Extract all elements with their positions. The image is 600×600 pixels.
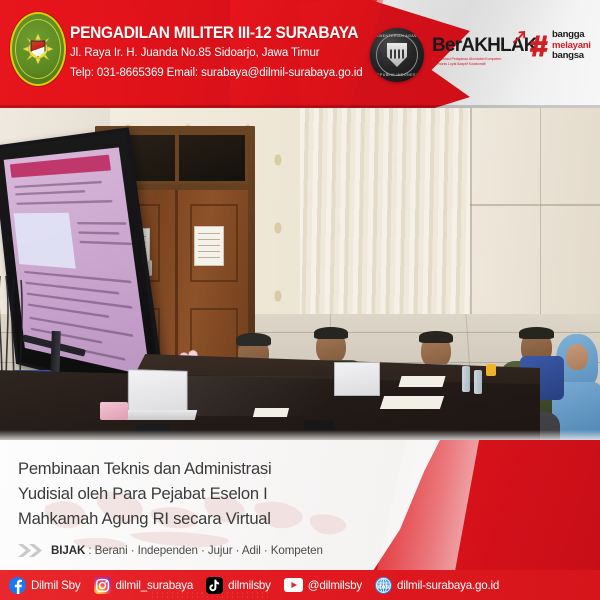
bangga-melayani-bangsa-logo: bangga melayani bangsa <box>530 30 600 62</box>
header-bar: PENGADILAN MILITER III-12 SURABAYA Jl. R… <box>0 0 600 108</box>
officer-hair <box>236 333 271 346</box>
photo-bottom-fade <box>0 430 600 440</box>
tiktok-icon[interactable] <box>206 577 223 594</box>
bijak-text: BIJAK : Berani · Independen · Jujur · Ad… <box>51 544 323 557</box>
tablet-device <box>304 420 334 430</box>
caption-line-1: Pembinaan Teknis dan Administrasi <box>18 456 368 481</box>
facebook-handle[interactable]: Dilmil Sby <box>31 579 81 592</box>
poster-root: PENGADILAN MILITER III-12 SURABAYA Jl. R… <box>0 0 600 600</box>
instagram-handle[interactable]: dilmil_surabaya <box>116 579 194 592</box>
berakhlak-logo: BerAKHLAK Berorientasi Pelayanan Akuntab… <box>432 36 528 68</box>
hashtag-icon <box>530 34 549 58</box>
event-photo <box>0 108 600 440</box>
wall-joint-horizontal <box>470 204 600 206</box>
organization-address: Jl. Raya Ir. H. Juanda No.85 Sidoarjo, J… <box>70 45 400 61</box>
social-media-footer: Dilmil Sby dilmil_surabaya dilmilsby <box>0 570 600 600</box>
bijak-label: BIJAK <box>51 544 85 557</box>
caption-headline: Pembinaan Teknis dan Administrasi Yudisi… <box>18 456 368 532</box>
instagram-icon[interactable] <box>94 577 111 594</box>
youtube-handle[interactable]: @dilmilsby <box>308 579 362 592</box>
organization-contact: Telp: 031-8665369 Email: surabaya@dilmil… <box>70 65 400 81</box>
website-icon[interactable]: WWW <box>375 577 392 594</box>
bijak-values: Berani · Independen · Jujur · Adil · Kom… <box>95 544 323 557</box>
youtube-icon[interactable] <box>284 578 303 592</box>
water-bottle <box>462 366 470 392</box>
header-title-block: PENGADILAN MILITER III-12 SURABAYA Jl. R… <box>70 25 400 81</box>
document-papers <box>380 396 444 409</box>
ministry-seal-icon: KEMENTERIAN AGAMA REPUBLIK INDONESIA <box>370 28 424 82</box>
caption-band: Pembinaan Teknis dan Administrasi Yudisi… <box>0 440 600 570</box>
bijak-tagline: BIJAK : Berani · Independen · Jujur · Ad… <box>18 544 323 557</box>
water-bottle-2 <box>474 370 482 394</box>
pink-notebook <box>100 402 128 420</box>
seal-top-text: KEMENTERIAN AGAMA <box>370 34 424 38</box>
document-papers-3 <box>253 408 289 417</box>
tiktok-handle[interactable]: dilmilsby <box>228 579 271 592</box>
laptop-open-lid <box>128 369 188 415</box>
bangga-line-3: bangsa <box>552 51 591 62</box>
bijak-separator: : <box>85 544 94 557</box>
website-handle[interactable]: dilmil-surabaya.go.id <box>397 579 499 592</box>
svg-text:WWW: WWW <box>377 583 391 588</box>
swoosh-icon <box>513 31 526 44</box>
social-website[interactable]: WWW dilmil-surabaya.go.id <box>375 577 499 594</box>
organization-title: PENGADILAN MILITER III-12 SURABAYA <box>70 25 380 42</box>
laptop-second <box>334 362 380 396</box>
double-chevron-right-icon <box>18 544 44 557</box>
caption-line-2: Yudisial oleh Para Pejabat Eselon I <box>18 481 368 506</box>
snack-item <box>486 364 496 376</box>
social-youtube[interactable]: @dilmilsby <box>284 578 362 592</box>
laptop-keyboard-base <box>123 410 197 420</box>
berakhlak-values-line2: Harmonis Loyal Adaptif Kolaboratif <box>432 62 528 67</box>
seal-bottom-text: REPUBLIK INDONESIA <box>370 73 424 77</box>
door-notice-right <box>194 226 224 266</box>
caption-line-3: Mahkamah Agung RI secara Virtual <box>18 506 368 531</box>
court-emblem-icon <box>10 12 66 86</box>
social-facebook[interactable]: Dilmil Sby <box>9 577 81 594</box>
wall-joint-vertical-2 <box>540 108 541 318</box>
vertical-curtain <box>300 108 485 338</box>
facebook-icon[interactable] <box>9 577 26 594</box>
berakhlak-ber-text: Ber <box>432 35 461 56</box>
document-papers-2 <box>398 376 445 387</box>
wall-joint-vertical <box>470 108 472 318</box>
